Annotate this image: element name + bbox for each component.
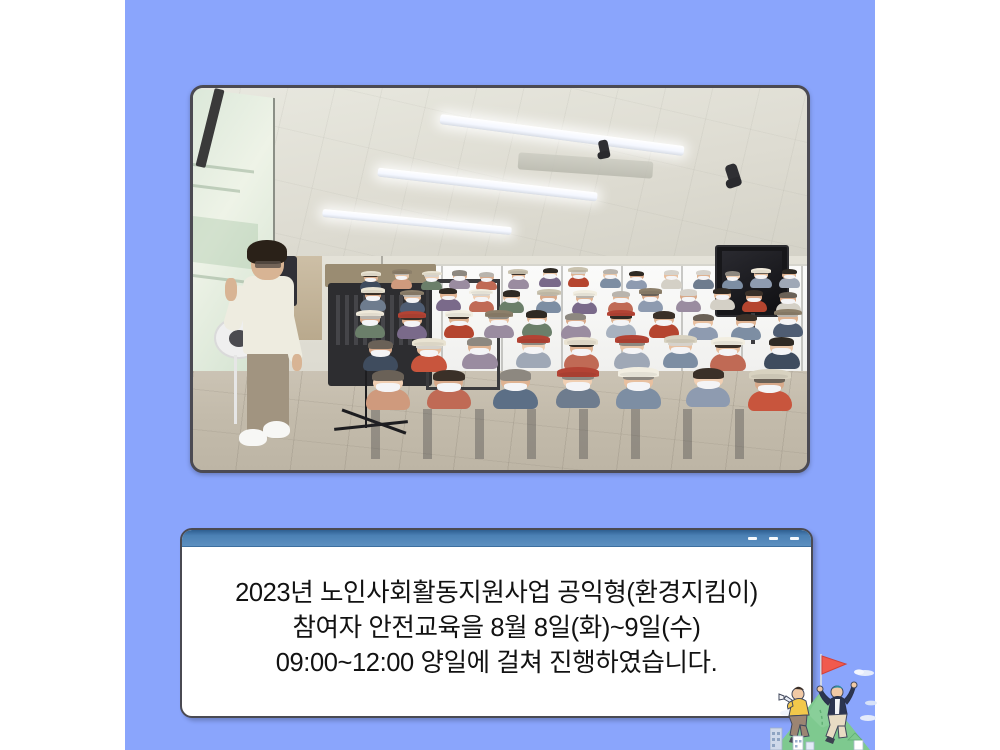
caption-line-2: 참여자 안전교육을 8월 8일(화)~9일(수) [292, 611, 700, 646]
sun-hat [557, 367, 599, 377]
ceiling [193, 88, 807, 268]
presenter [230, 245, 310, 455]
sun-hat [361, 271, 381, 276]
audience-member [642, 291, 659, 310]
caption-body: 2023년 노인사회활동지원사업 공익형(환경지킴이) 참여자 안전교육을 8월… [182, 547, 811, 716]
audience-member [360, 313, 380, 335]
audience-member [503, 292, 520, 311]
audience-member [654, 313, 674, 335]
audience-member [603, 271, 617, 287]
audience-member [571, 270, 585, 286]
audience-member [693, 316, 713, 338]
sun-hat [356, 310, 384, 317]
caption-card: 2023년 노인사회활동지원사업 공익형(환경지킴이) 참여자 안전교육을 8월… [180, 528, 813, 718]
audience-member [395, 271, 409, 287]
caption-line-3: 09:00~12:00 양일에 걸쳐 진행하였습니다. [276, 646, 718, 681]
audience-member [697, 272, 711, 288]
audience-member [566, 315, 586, 337]
sun-hat [618, 367, 660, 377]
event-photo [190, 85, 810, 473]
audience-member [624, 372, 653, 405]
audience-member [512, 272, 526, 288]
audience-member [620, 340, 644, 367]
close-icon[interactable] [790, 537, 799, 540]
audience-member [726, 272, 740, 288]
sun-hat [412, 338, 446, 346]
audience-member [540, 292, 557, 311]
audience-member [480, 273, 494, 289]
audience-member [694, 371, 723, 404]
sun-hat [564, 337, 598, 345]
card-titlebar [182, 530, 811, 547]
audience-member [501, 373, 530, 406]
audience-member [782, 271, 796, 287]
audience-member [434, 373, 463, 406]
audience-member [417, 342, 441, 369]
minimize-icon[interactable] [748, 537, 757, 540]
audience-member [527, 312, 547, 334]
audience-member [425, 273, 439, 289]
audience-member [680, 291, 697, 310]
audience-member [373, 374, 402, 407]
audience-member [714, 290, 731, 309]
sun-hat [751, 268, 771, 273]
sun-hat [469, 289, 493, 295]
audience-member [669, 339, 693, 366]
audience-member [746, 292, 763, 311]
audience-member [611, 313, 631, 335]
sun-hat [711, 337, 745, 345]
sun-hat [400, 290, 424, 296]
audience-member [522, 339, 546, 366]
audience-member [473, 292, 490, 311]
sun-hat [422, 271, 442, 276]
sun-hat [508, 269, 528, 274]
sun-hat [615, 335, 649, 343]
audience-member [778, 312, 798, 334]
audience-member [755, 375, 784, 408]
sun-hat [749, 369, 791, 379]
sun-hat [537, 289, 561, 295]
sun-hat [607, 310, 635, 317]
chair-row [371, 409, 782, 459]
audience-member [404, 293, 421, 312]
sun-hat [517, 335, 551, 343]
audience-member [402, 315, 422, 337]
audience-member [576, 293, 593, 312]
maximize-icon[interactable] [769, 537, 778, 540]
sun-hat [774, 309, 802, 316]
audience-member [664, 271, 678, 287]
sun-hat [568, 267, 588, 272]
audience-member [369, 342, 393, 369]
celebration-illustration [770, 632, 880, 750]
caption-line-1: 2023년 노인사회활동지원사업 공익형(환경지킴이) [235, 576, 758, 611]
slide-canvas: 2023년 노인사회활동지원사업 공익형(환경지킴이) 참여자 안전교육을 8월… [0, 0, 1000, 750]
audience-member [543, 270, 557, 286]
audience-member [570, 341, 594, 368]
sun-hat [445, 310, 473, 317]
audience-member [365, 290, 382, 309]
audience-member [716, 341, 740, 368]
audience-member [754, 270, 768, 286]
sun-hat [485, 310, 513, 317]
sun-hat [639, 288, 663, 294]
sun-hat [361, 287, 385, 293]
audience-member [453, 272, 467, 288]
sun-hat [664, 335, 698, 343]
audience-member [440, 290, 457, 309]
photo-scene [193, 88, 807, 470]
audience-member [736, 316, 756, 338]
audience-member [468, 340, 492, 367]
sun-hat [398, 311, 426, 318]
sun-hat [392, 269, 412, 274]
audience-member [449, 314, 469, 336]
audience-member [489, 314, 509, 336]
audience-member [770, 340, 794, 367]
audience-member [613, 293, 630, 312]
audience-member [630, 272, 644, 288]
audience-member [563, 372, 592, 405]
sun-hat [573, 290, 597, 296]
